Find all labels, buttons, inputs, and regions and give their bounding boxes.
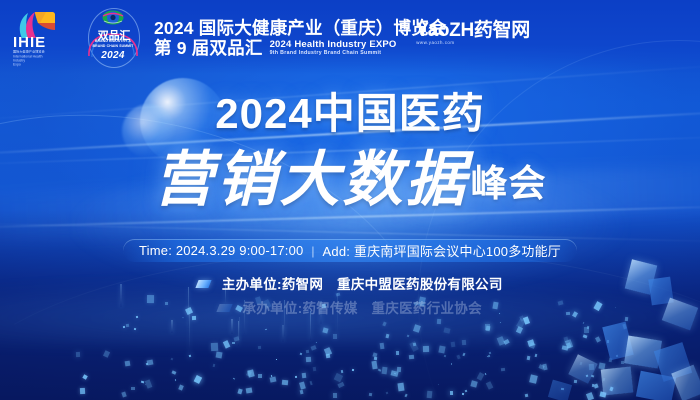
particle-cube (76, 352, 80, 357)
particle-cube (444, 354, 446, 356)
particle-cube (83, 374, 89, 380)
expo-title-block: 2024 国际大健康产业（重庆）博览会 第 9 届双品汇 2024 Health… (154, 16, 447, 58)
sph-eye-globe-icon (102, 10, 124, 25)
particle-cube (282, 380, 288, 386)
particle-cube (462, 393, 464, 396)
ihie-wordmark-block: IHIE 国际大健康产业博览会 International Health Ind… (13, 35, 73, 66)
particle-cube (324, 347, 332, 356)
organizer-line-host: 主办单位:药智网 重庆中盟医药股份有限公司 (0, 273, 700, 294)
particle-cube (237, 389, 243, 395)
sph-year: 2024 (84, 50, 142, 61)
particle-tower (171, 320, 173, 333)
particle-cube (302, 373, 307, 379)
poster-header: IHIE 国际大健康产业博览会 International Health Ind… (0, 0, 700, 74)
particle-cube (122, 326, 124, 328)
particle-tower (239, 317, 241, 341)
particle-cube (423, 345, 429, 351)
particle-cube (313, 366, 317, 371)
particle-cube (145, 379, 153, 388)
particle-cube (501, 367, 506, 371)
particle-cube (170, 358, 172, 360)
sph-subtitle-en-1: BRAND INDUSTRY & (84, 39, 142, 44)
sph-subtitle-en-2: BRAND CHAIN SUMMIT (84, 44, 142, 49)
particle-cube (121, 391, 126, 397)
particle-cube (306, 357, 311, 362)
particle-cube (246, 387, 253, 393)
particle-cube (194, 375, 202, 384)
particle-cube (488, 355, 491, 357)
particle-cube (486, 381, 493, 389)
particle-cube (381, 367, 387, 375)
particle-cube (386, 391, 389, 394)
parallelogram-marker-icon (196, 280, 212, 288)
logo-ihie[interactable]: IHIE 国际大健康产业博览会 International Health Ind… (12, 10, 74, 64)
particle-cube (233, 377, 235, 379)
ihie-subtitle-en-3: Expo (13, 62, 79, 67)
particle-cube (305, 350, 308, 353)
particle-cube (140, 381, 144, 384)
particle-cube (477, 372, 485, 381)
particle-cube (295, 376, 297, 378)
expo-title-en1: 2024 Health Industry EXPO (270, 40, 397, 50)
expo-title-en2: 9th Brand Industry Brand Chain Summit (270, 50, 397, 57)
particle-cube (451, 362, 452, 364)
particle-tower (231, 319, 233, 334)
headline-line2-calligraphy: 营销大数据 (154, 145, 469, 215)
expo-title-line1: 2024 国际大健康产业（重庆）博览会 (154, 18, 447, 39)
headline-block: 2024中国医药 (0, 90, 700, 138)
particle-cube (341, 370, 343, 373)
headline-line2-block: 营销大数据峰会 (0, 145, 700, 231)
particle-cube (485, 325, 490, 331)
particle-cube (258, 346, 261, 349)
particle-cube (409, 355, 415, 360)
expo-title-line2: 第 9 届双品汇 2024 Health Industry EXPO 9th B… (154, 39, 447, 58)
particle-cube (397, 383, 404, 392)
particle-cube (464, 390, 467, 393)
expo-title-line2-en-block: 2024 Health Industry EXPO 9th Brand Indu… (270, 40, 397, 58)
ihie-wordmark: IHIE (13, 35, 73, 50)
organizer-line-coorganizer: 承办单位:药智传媒 重庆医药行业协会 (0, 297, 700, 318)
particle-cube (265, 328, 267, 330)
particle-cube (427, 391, 433, 398)
particle-cube (333, 393, 337, 398)
particle-cube (211, 343, 218, 351)
particle-tower (282, 325, 284, 342)
expo-title-line2-cn: 第 9 届双品汇 (154, 39, 263, 58)
event-time-text: Time: 2024.3.29 9:00-17:00 (139, 243, 303, 258)
particle-cube (369, 393, 372, 396)
particle-cube (276, 359, 277, 360)
event-info-pill: Time: 2024.3.29 9:00-17:00 | Add: 重庆南坪国际… (123, 239, 577, 262)
particle-cube (103, 350, 110, 358)
particle-cube (385, 333, 388, 337)
yaozh-wordmark: YaoZH药智网 (416, 21, 530, 41)
particle-cube (371, 361, 377, 369)
particle-cube (377, 368, 380, 371)
particle-cube (124, 361, 130, 367)
logo-yaozh[interactable]: YaoZH药智网 www.yaozh.com (416, 21, 530, 46)
particle-cube (462, 340, 466, 346)
organizer-host-text: 主办单位:药智网 重庆中盟医药股份有限公司 (222, 277, 503, 292)
logo-shuangpinhui[interactable]: 双品汇 BRAND INDUSTRY & BRAND CHAIN SUMMIT … (84, 6, 142, 68)
particle-cube (216, 351, 223, 358)
particle-cube (334, 373, 343, 382)
particle-cube (438, 384, 439, 385)
particle-cube (232, 342, 235, 344)
headline-line2-tail: 峰会 (471, 161, 547, 205)
particle-cube (485, 372, 487, 374)
particle-cube (404, 394, 407, 398)
particle-cube (463, 353, 466, 356)
particle-cube (172, 370, 177, 374)
organizer-coorganizer-text: 承办单位:药智传媒 重庆医药行业协会 (243, 301, 482, 316)
particle-cube (352, 369, 354, 371)
particle-cube (450, 391, 454, 395)
particle-cube (373, 356, 376, 360)
particle-cube (258, 374, 262, 378)
particle-cube (299, 381, 306, 390)
particle-cube (80, 388, 85, 394)
parallelogram-marker-icon (216, 304, 232, 312)
particle-cube (270, 376, 277, 382)
particle-cube (310, 346, 315, 351)
particle-cube (178, 385, 183, 391)
particle-cube (189, 355, 191, 358)
headline-line1: 2024中国医药 (0, 90, 700, 138)
particle-cube (175, 379, 177, 381)
event-poster: IHIE 国际大健康产业博览会 International Health Ind… (0, 0, 700, 400)
pill-separator: | (311, 244, 314, 258)
particle-cube (300, 353, 302, 355)
particle-cube (470, 380, 478, 388)
particle-cube (213, 363, 216, 366)
particle-cube (396, 351, 399, 355)
particle-cube (131, 387, 135, 390)
particle-cube (310, 380, 313, 384)
particle-cube (438, 346, 445, 354)
particle-cube (337, 382, 344, 388)
particle-cube (456, 354, 460, 359)
event-address-text: Add: 重庆南坪国际会议中心100多功能厅 (323, 241, 561, 260)
